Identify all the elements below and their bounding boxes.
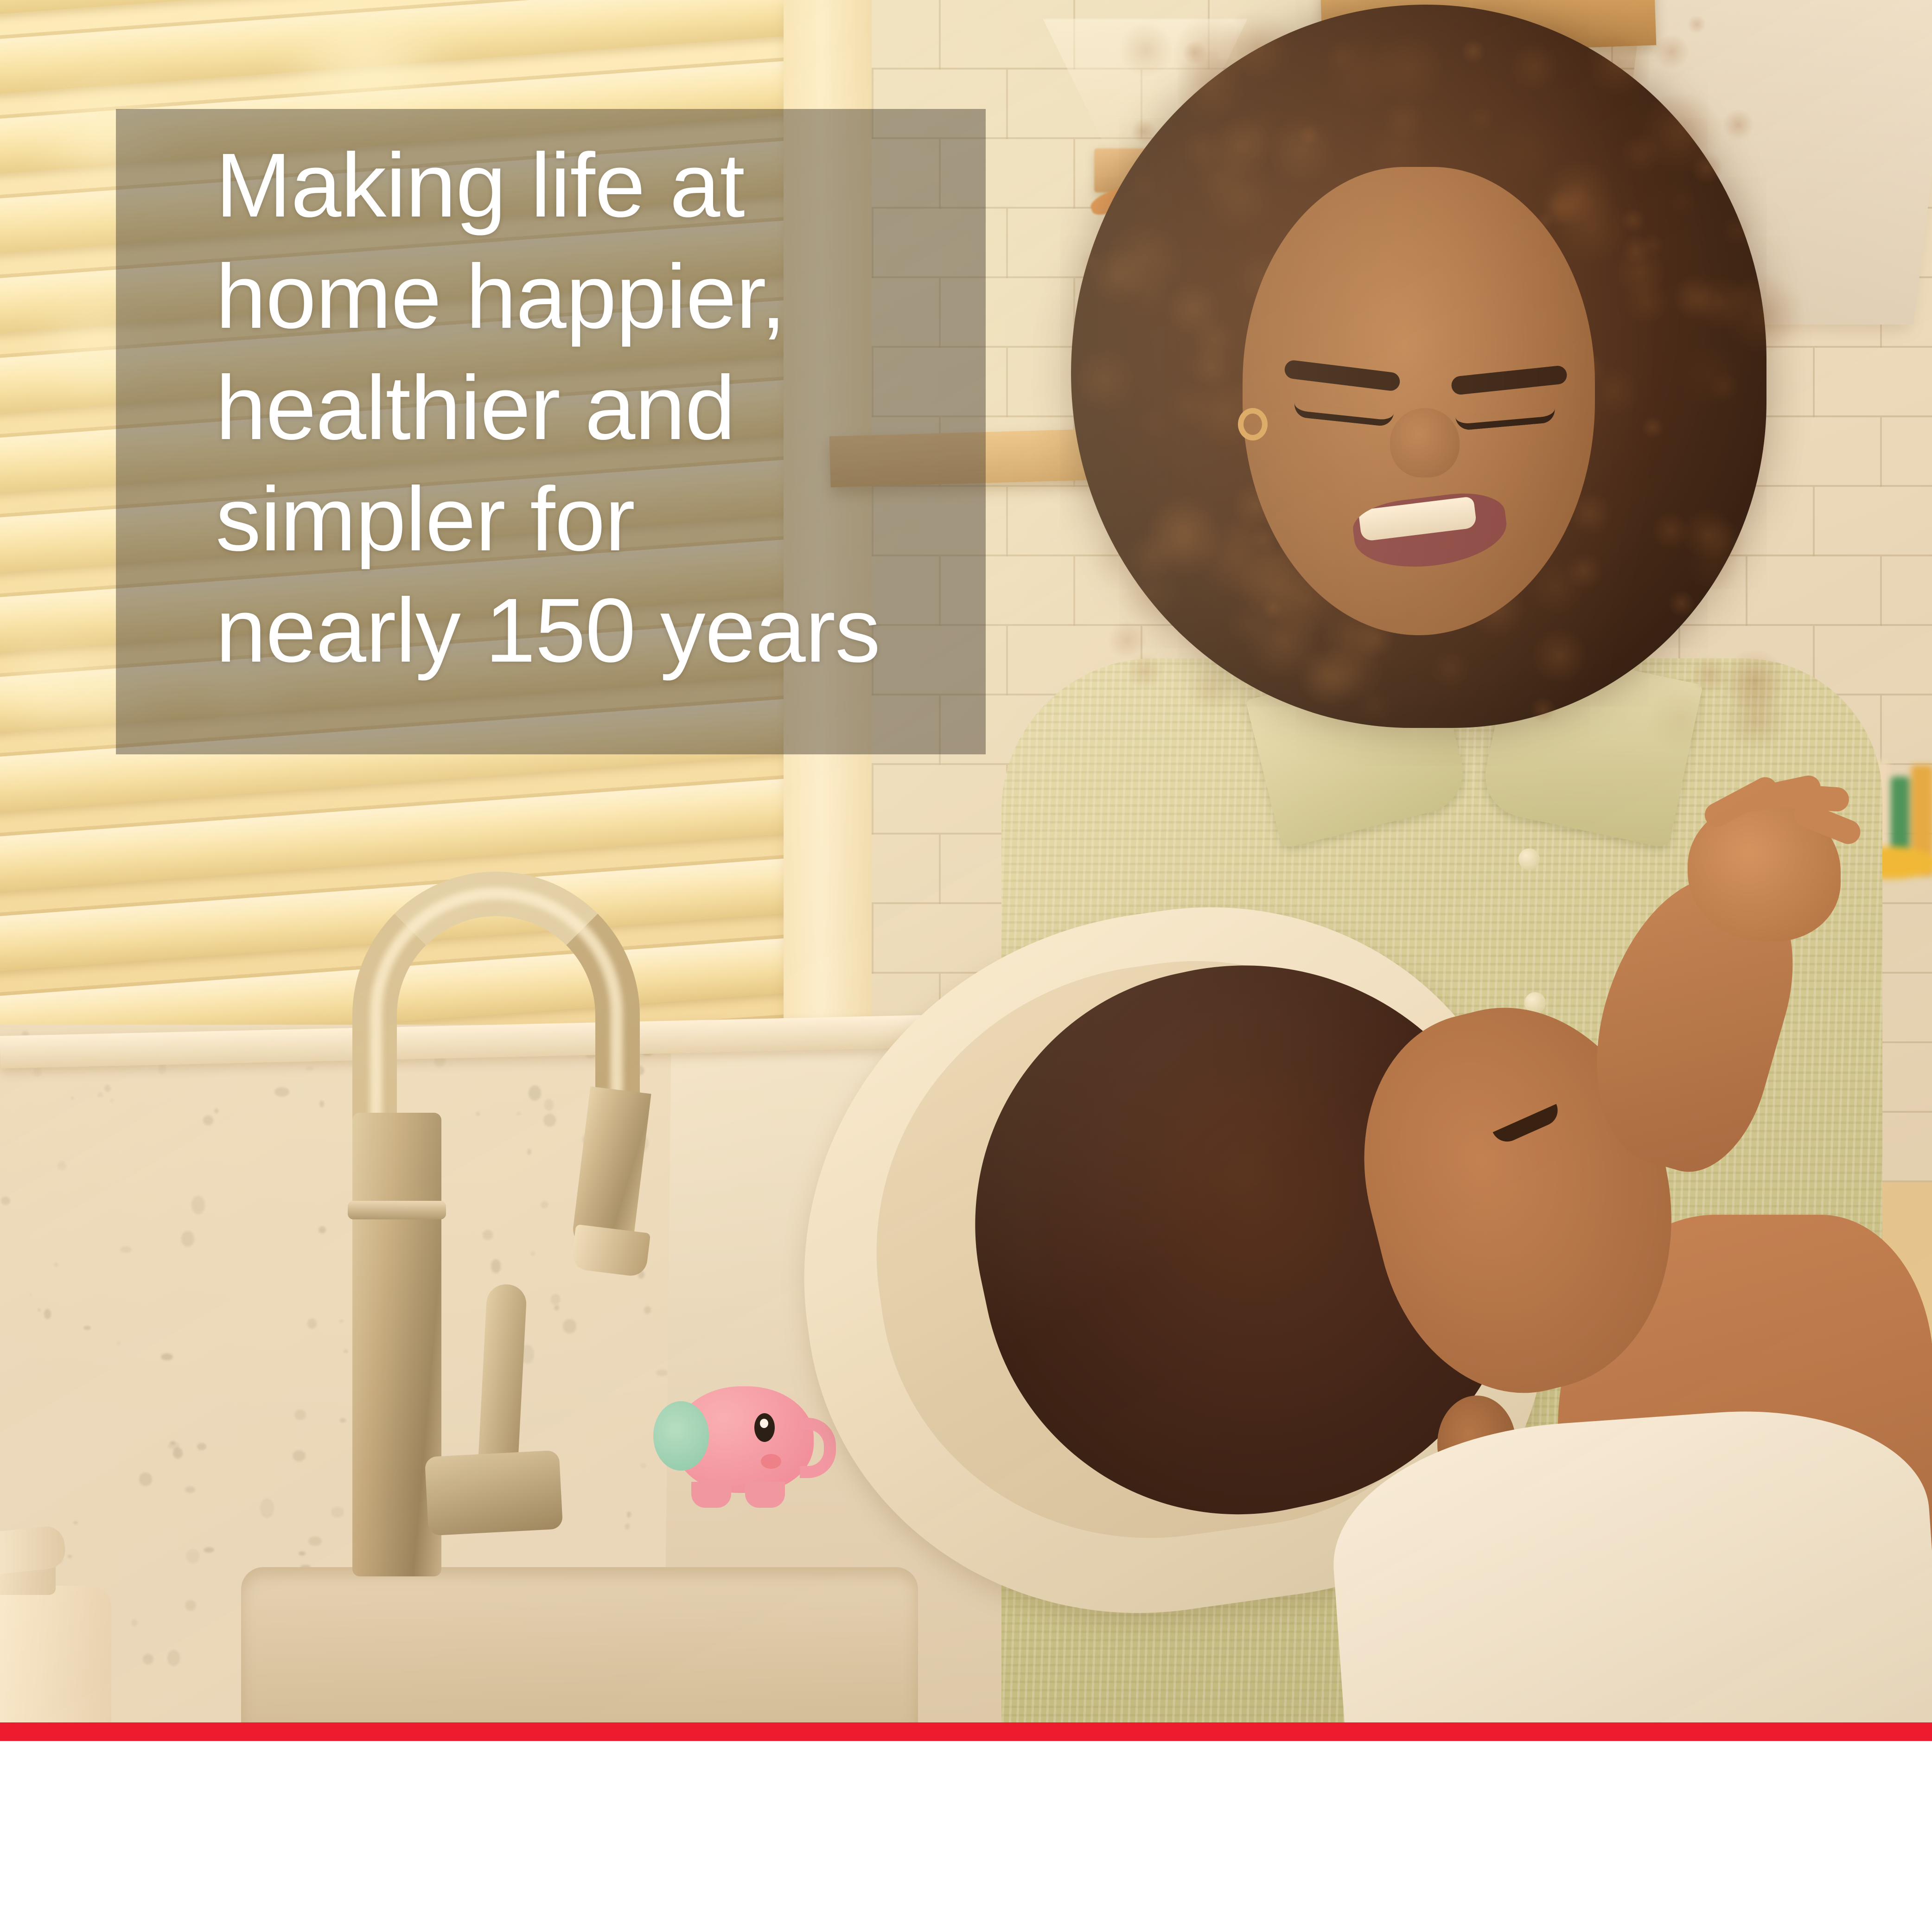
hair-curl <box>1180 127 1225 172</box>
marble-speck <box>33 1067 41 1077</box>
hair-curl <box>1461 39 1486 63</box>
hair-curl <box>1430 648 1471 689</box>
marble-speck <box>57 1161 66 1171</box>
hair-curl <box>1131 118 1157 144</box>
marble-speck <box>167 1650 180 1666</box>
marble-speck <box>73 1521 78 1524</box>
hair-curl <box>1686 540 1739 593</box>
page-title: Making life at home happier, healthier a… <box>216 130 1004 686</box>
marble-speck <box>186 1549 200 1563</box>
marble-speck <box>54 1262 58 1267</box>
hair-curl <box>1722 109 1754 140</box>
hair-curl <box>1186 666 1235 714</box>
hair-curl <box>1531 627 1588 684</box>
marble-speck <box>120 1246 132 1253</box>
hair-curl <box>1642 416 1664 439</box>
hair-curl <box>1623 278 1670 325</box>
marble-speck <box>307 1319 316 1329</box>
hair-curl <box>1509 41 1560 92</box>
marble-speck <box>293 1450 306 1461</box>
marble-speck <box>203 1116 213 1125</box>
marble-speck <box>104 1085 111 1092</box>
marble-speck <box>185 1486 195 1493</box>
blind-light-glow <box>250 28 482 107</box>
marble-speck <box>44 1309 51 1320</box>
marble-speck <box>215 1109 218 1113</box>
hair-curl <box>1164 382 1212 430</box>
hair-curl <box>1585 30 1651 97</box>
marble-speck <box>1 1197 10 1205</box>
marble-speck <box>331 1507 344 1518</box>
hair-curl <box>1370 31 1445 106</box>
hair-curl <box>1620 132 1662 174</box>
hair-curl <box>1468 105 1494 131</box>
marble-speck <box>110 1099 114 1102</box>
marble-speck <box>38 1309 41 1311</box>
hair-curl <box>1090 538 1137 586</box>
marble-speck <box>29 1294 32 1296</box>
pull-down-faucet <box>343 872 677 1586</box>
shirt-button-1 <box>1518 848 1540 870</box>
marble-speck <box>299 1551 305 1556</box>
hair-curl <box>1709 371 1740 402</box>
tile-seam <box>872 765 874 835</box>
marble-speck <box>139 1473 152 1486</box>
hair-curl <box>1325 39 1359 73</box>
hair-curl <box>1267 115 1337 185</box>
hair-curl <box>1548 159 1613 224</box>
marble-speck <box>319 1226 326 1233</box>
hair-curl <box>1146 492 1224 570</box>
hair-curl <box>1722 649 1787 714</box>
marble-speck <box>197 1443 206 1450</box>
hair-curl <box>1530 696 1556 722</box>
hair-curl <box>1107 620 1147 660</box>
hair-curl <box>1668 590 1695 617</box>
hair-curl <box>1645 684 1715 753</box>
hair-curl <box>1165 280 1223 338</box>
baby-hand <box>1688 802 1841 941</box>
hair-curl <box>1303 647 1366 710</box>
advertisement-card: Making life at home happier, healthier a… <box>0 0 1932 1932</box>
hair-curl <box>1687 15 1706 34</box>
marble-speck <box>319 1101 325 1107</box>
brand-red-divider <box>0 1722 1932 1741</box>
marble-speck <box>274 1087 289 1097</box>
woman-and-baby <box>918 0 1932 1722</box>
marble-speck <box>308 1537 322 1545</box>
hair-curl <box>1651 511 1690 550</box>
lifestyle-photo: Making life at home happier, healthier a… <box>0 0 1932 1722</box>
elephant-bath-toy <box>647 1358 842 1511</box>
marble-speck <box>185 1600 196 1611</box>
hair-curl <box>1671 276 1714 319</box>
woman-earring <box>1238 408 1268 440</box>
marble-speck <box>117 1342 120 1345</box>
marble-speck <box>161 1353 172 1360</box>
hair-curl <box>1071 346 1138 413</box>
marble-speck <box>191 1196 205 1214</box>
marble-speck <box>71 1097 74 1099</box>
hair-curl <box>1640 233 1664 257</box>
hair-curl <box>1669 189 1695 216</box>
hair-curl <box>1654 34 1690 70</box>
marble-speck <box>83 1326 91 1330</box>
marble-speck <box>294 1409 306 1421</box>
marble-speck <box>143 1654 154 1664</box>
woman-nose <box>1390 408 1460 478</box>
hair-curl <box>1690 151 1723 184</box>
soap-dispenser <box>0 1525 125 1722</box>
hair-curl <box>1172 14 1250 93</box>
marble-speck <box>131 1619 138 1626</box>
marble-speck <box>97 1092 103 1097</box>
marble-speck <box>260 1498 274 1518</box>
marble-speck <box>204 1547 214 1553</box>
hair-curl <box>1721 215 1753 247</box>
tile-seam <box>872 904 874 974</box>
hair-curl <box>1118 22 1174 78</box>
marble-speck <box>306 1066 313 1070</box>
sink-basin <box>241 1567 918 1722</box>
hair-curl <box>1129 171 1158 200</box>
hair-curl <box>1727 276 1763 313</box>
footer-bar: American Standard <box>0 1741 1932 1932</box>
marble-speck <box>181 1231 194 1247</box>
